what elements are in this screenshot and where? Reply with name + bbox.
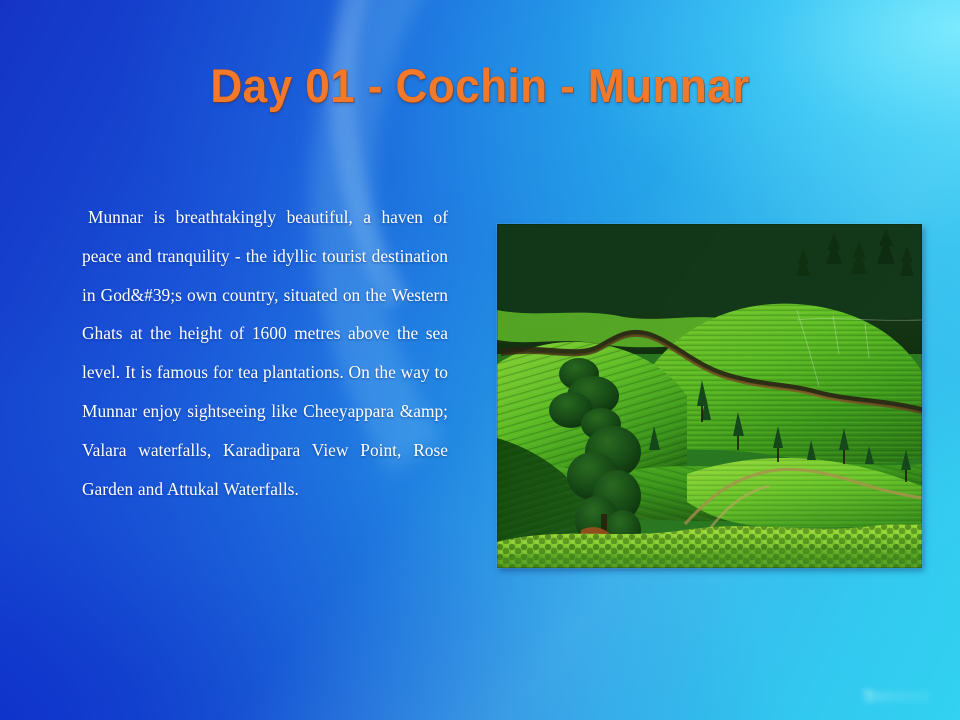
slide-body-text: Munnar is breathtakingly beautiful, a ha…	[82, 198, 448, 508]
munnar-tea-plantation-photo	[497, 224, 922, 568]
presentation-slide: Day 01 - Cochin - Munnar Munnar is breat…	[0, 0, 960, 720]
watermark-label	[868, 691, 930, 702]
photo-frame	[497, 224, 922, 568]
slide-title: Day 01 - Cochin - Munnar	[29, 58, 931, 114]
